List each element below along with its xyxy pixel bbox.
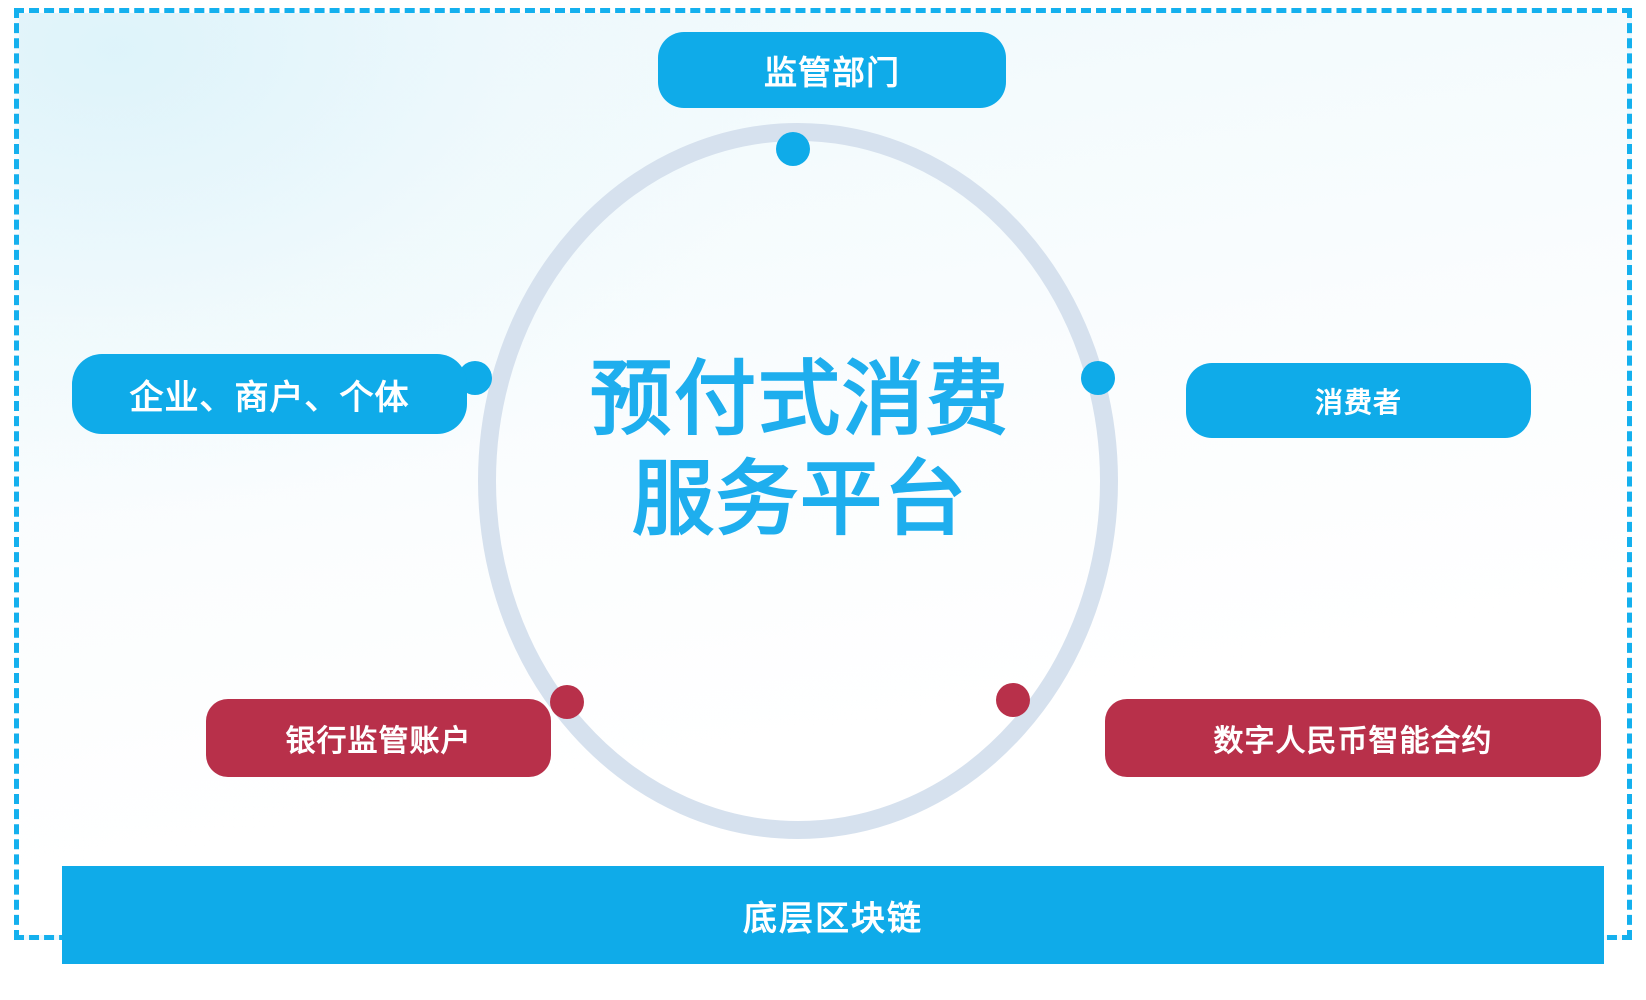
prepaid-consumption-platform-diagram: 预付式消费 服务平台 监管部门 企业、商户、个体 消费者 银行监管账户 数字人民…	[0, 0, 1646, 1000]
node-regulator[interactable]: 监管部门	[658, 32, 1006, 108]
page-title: 预付式消费 服务平台	[530, 350, 1070, 550]
node-consumer[interactable]: 消费者	[1186, 363, 1531, 438]
node-consumer-label: 消费者	[1315, 381, 1402, 421]
dot-regulator-icon	[776, 132, 810, 166]
node-cbdc-label: 数字人民币智能合约	[1214, 716, 1493, 760]
node-enterprise-label: 企业、商户、个体	[130, 370, 410, 419]
node-digital-rmb-smart-contract[interactable]: 数字人民币智能合约	[1105, 699, 1601, 777]
node-bank-supervision-account[interactable]: 银行监管账户	[206, 699, 551, 777]
center-title-line-1: 预付式消费	[530, 350, 1070, 450]
center-title-line-2: 服务平台	[530, 450, 1070, 550]
footer-blockchain-label: 底层区块链	[743, 891, 923, 940]
footer-blockchain-bar[interactable]: 底层区块链	[62, 866, 1604, 964]
node-regulator-label: 监管部门	[764, 46, 900, 94]
dot-cbdc-icon	[996, 683, 1030, 717]
node-enterprise[interactable]: 企业、商户、个体	[72, 354, 467, 434]
node-bank-label: 银行监管账户	[286, 716, 472, 760]
dot-consumer-icon	[1081, 361, 1115, 395]
dot-bank-icon	[550, 685, 584, 719]
